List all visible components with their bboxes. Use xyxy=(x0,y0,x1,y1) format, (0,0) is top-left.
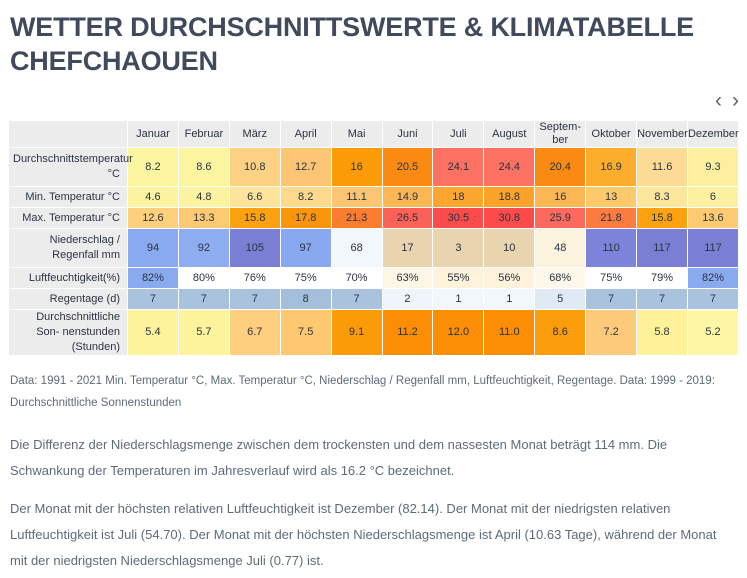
data-cell: 15.8 xyxy=(230,208,280,228)
table-body: Durchschnittstemperatur °C8.28.610.812.7… xyxy=(9,148,738,355)
data-cell: 82% xyxy=(688,268,738,288)
column-header-month-7: Juli xyxy=(433,121,483,147)
column-header-month-4: April xyxy=(281,121,331,147)
prev-arrow-icon[interactable]: ‹ xyxy=(715,90,722,111)
data-cell: 11.1 xyxy=(332,187,382,207)
data-cell: 12.7 xyxy=(281,148,331,186)
data-cell: 68% xyxy=(535,268,585,288)
table-row: Durchschnittstemperatur °C8.28.610.812.7… xyxy=(9,148,738,186)
data-cell: 10.8 xyxy=(230,148,280,186)
data-cell: 5.4 xyxy=(128,310,178,355)
data-cell: 6 xyxy=(688,187,738,207)
row-label: Max. Temperatur °C xyxy=(9,208,127,228)
table-row: Niederschlag / Regenfall mm9492105976817… xyxy=(9,229,738,267)
data-cell: 6.7 xyxy=(230,310,280,355)
data-cell: 56% xyxy=(484,268,534,288)
table-row: Luftfeuchtigkeit(%)82%80%76%75%70%63%55%… xyxy=(9,268,738,288)
data-cell: 70% xyxy=(332,268,382,288)
data-cell: 4.6 xyxy=(128,187,178,207)
data-cell: 21.3 xyxy=(332,208,382,228)
data-cell: 16 xyxy=(535,187,585,207)
data-cell: 12.6 xyxy=(128,208,178,228)
climate-page: WETTER DURCHSCHNITTSWERTE & KLIMATABELLE… xyxy=(0,0,747,578)
data-cell: 7 xyxy=(179,289,229,309)
data-cell: 17 xyxy=(383,229,433,267)
data-cell: 97 xyxy=(281,229,331,267)
data-cell: 76% xyxy=(230,268,280,288)
data-cell: 80% xyxy=(179,268,229,288)
row-label: Durchschnittliche Son- nenstunden (Stund… xyxy=(9,310,127,355)
data-cell: 5.8 xyxy=(637,310,687,355)
data-source-footnote: Data: 1991 - 2021 Min. Temperatur °C, Ma… xyxy=(10,370,738,414)
data-cell: 11.0 xyxy=(484,310,534,355)
table-header-row: JanuarFebruarMärzAprilMaiJuniJuliAugustS… xyxy=(9,121,738,147)
column-header-month-12: Dezember xyxy=(688,121,738,147)
table-row: Max. Temperatur °C12.613.315.817.821.326… xyxy=(9,208,738,228)
data-cell: 12.0 xyxy=(433,310,483,355)
data-cell: 13 xyxy=(586,187,636,207)
data-cell: 11.6 xyxy=(637,148,687,186)
data-cell: 14.9 xyxy=(383,187,433,207)
data-cell: 16.9 xyxy=(586,148,636,186)
row-label: Durchschnittstemperatur °C xyxy=(9,148,127,186)
data-cell: 7 xyxy=(688,289,738,309)
data-cell: 68 xyxy=(332,229,382,267)
data-cell: 7.2 xyxy=(586,310,636,355)
data-cell: 18 xyxy=(433,187,483,207)
data-cell: 7 xyxy=(586,289,636,309)
data-cell: 30.8 xyxy=(484,208,534,228)
table-row: Durchschnittliche Son- nenstunden (Stund… xyxy=(9,310,738,355)
table-corner-cell xyxy=(9,121,127,147)
data-cell: 30.5 xyxy=(433,208,483,228)
data-cell: 7.5 xyxy=(281,310,331,355)
data-cell: 20.5 xyxy=(383,148,433,186)
column-header-month-1: Januar xyxy=(128,121,178,147)
data-cell: 7 xyxy=(230,289,280,309)
data-cell: 5.2 xyxy=(688,310,738,355)
climate-table: JanuarFebruarMärzAprilMaiJuniJuliAugustS… xyxy=(8,120,739,356)
carousel-nav: ‹ › xyxy=(715,90,739,111)
data-cell: 16 xyxy=(332,148,382,186)
data-cell: 7 xyxy=(128,289,178,309)
data-cell: 25.9 xyxy=(535,208,585,228)
data-cell: 6.6 xyxy=(230,187,280,207)
table-head: JanuarFebruarMärzAprilMaiJuniJuliAugustS… xyxy=(9,121,738,147)
data-cell: 10 xyxy=(484,229,534,267)
data-cell: 21.8 xyxy=(586,208,636,228)
column-header-month-9: Septem-​ber xyxy=(535,121,585,147)
data-cell: 2 xyxy=(383,289,433,309)
data-cell: 8 xyxy=(281,289,331,309)
row-label: Regentage (d) xyxy=(9,289,127,309)
data-cell: 92 xyxy=(179,229,229,267)
data-cell: 13.3 xyxy=(179,208,229,228)
data-cell: 117 xyxy=(688,229,738,267)
data-cell: 4.8 xyxy=(179,187,229,207)
data-cell: 55% xyxy=(433,268,483,288)
data-cell: 1 xyxy=(484,289,534,309)
column-header-month-2: Februar xyxy=(179,121,229,147)
column-header-month-11: November xyxy=(637,121,687,147)
summary-paragraph-1: Die Differenz der Niederschlagsmenge zwi… xyxy=(10,432,736,484)
data-cell: 17.8 xyxy=(281,208,331,228)
data-cell: 8.2 xyxy=(128,148,178,186)
data-cell: 8.2 xyxy=(281,187,331,207)
column-header-month-8: August xyxy=(484,121,534,147)
data-cell: 24.4 xyxy=(484,148,534,186)
data-cell: 9.1 xyxy=(332,310,382,355)
data-cell: 8.3 xyxy=(637,187,687,207)
row-label: Niederschlag / Regenfall mm xyxy=(9,229,127,267)
data-cell: 24.1 xyxy=(433,148,483,186)
data-cell: 20.4 xyxy=(535,148,585,186)
column-header-month-6: Juni xyxy=(383,121,433,147)
data-cell: 79% xyxy=(637,268,687,288)
data-cell: 94 xyxy=(128,229,178,267)
data-cell: 13.6 xyxy=(688,208,738,228)
summary-paragraph-2: Der Monat mit der höchsten relativen Luf… xyxy=(10,496,736,574)
data-cell: 75% xyxy=(281,268,331,288)
data-cell: 11.2 xyxy=(383,310,433,355)
data-cell: 5.7 xyxy=(179,310,229,355)
data-cell: 15.8 xyxy=(637,208,687,228)
data-cell: 3 xyxy=(433,229,483,267)
table-row: Regentage (d)777872115777 xyxy=(9,289,738,309)
climate-table-container: JanuarFebruarMärzAprilMaiJuniJuliAugustS… xyxy=(8,120,739,356)
column-header-month-3: März xyxy=(230,121,280,147)
data-cell: 63% xyxy=(383,268,433,288)
data-cell: 117 xyxy=(637,229,687,267)
table-row: Min. Temperatur °C4.64.86.68.211.114.918… xyxy=(9,187,738,207)
data-cell: 26.5 xyxy=(383,208,433,228)
data-cell: 105 xyxy=(230,229,280,267)
data-cell: 7 xyxy=(332,289,382,309)
data-cell: 7 xyxy=(637,289,687,309)
data-cell: 9.3 xyxy=(688,148,738,186)
row-label: Luftfeuchtigkeit(%) xyxy=(9,268,127,288)
column-header-month-5: Mai xyxy=(332,121,382,147)
data-cell: 75% xyxy=(586,268,636,288)
page-title: WETTER DURCHSCHNITTSWERTE & KLIMATABELLE… xyxy=(0,0,747,78)
data-cell: 5 xyxy=(535,289,585,309)
data-cell: 8.6 xyxy=(535,310,585,355)
next-arrow-icon[interactable]: › xyxy=(732,90,739,111)
column-header-month-10: Oktober xyxy=(586,121,636,147)
row-label: Min. Temperatur °C xyxy=(9,187,127,207)
data-cell: 1 xyxy=(433,289,483,309)
data-cell: 8.6 xyxy=(179,148,229,186)
data-cell: 82% xyxy=(128,268,178,288)
data-cell: 110 xyxy=(586,229,636,267)
data-cell: 48 xyxy=(535,229,585,267)
data-cell: 18.8 xyxy=(484,187,534,207)
